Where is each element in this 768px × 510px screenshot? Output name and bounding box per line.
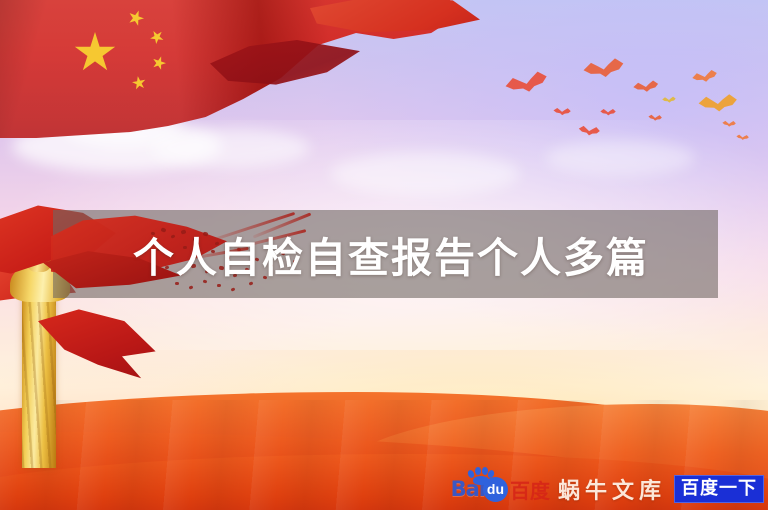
cloud: [330, 152, 520, 196]
flag-particle: [231, 287, 236, 292]
baidu-chinese-text: 百度: [510, 475, 550, 504]
flag-particle: [217, 284, 221, 287]
baidu-logo[interactable]: Bai du 百度: [451, 476, 550, 502]
bird-icon: [553, 106, 572, 118]
page-title: 个人自检自查报告个人多篇: [133, 224, 649, 284]
site-name: 蜗牛文库: [558, 473, 666, 505]
paw-print-icon: [468, 467, 494, 484]
bird-icon: [577, 124, 601, 141]
bird-icon: [662, 96, 676, 105]
title-banner: 个人自检自查报告个人多篇: [53, 210, 718, 298]
bird-icon: [648, 113, 663, 123]
bird-icon: [600, 108, 616, 119]
bird-icon: [736, 133, 750, 142]
cover-image: 个人自检自查报告个人多篇 Bai du 百度 蜗牛文库 百度一下: [0, 0, 768, 510]
baidu-search-button[interactable]: 百度一下: [674, 475, 764, 503]
bird-icon: [632, 79, 660, 98]
huabiao-column: [22, 286, 56, 468]
branding-bar: Bai du 百度 蜗牛文库 百度一下: [451, 472, 764, 506]
china-national-flag: [0, 0, 450, 138]
flag-particle: [189, 285, 194, 289]
bird-icon: [697, 92, 739, 120]
bird-icon: [722, 120, 737, 130]
cloud: [545, 140, 695, 176]
